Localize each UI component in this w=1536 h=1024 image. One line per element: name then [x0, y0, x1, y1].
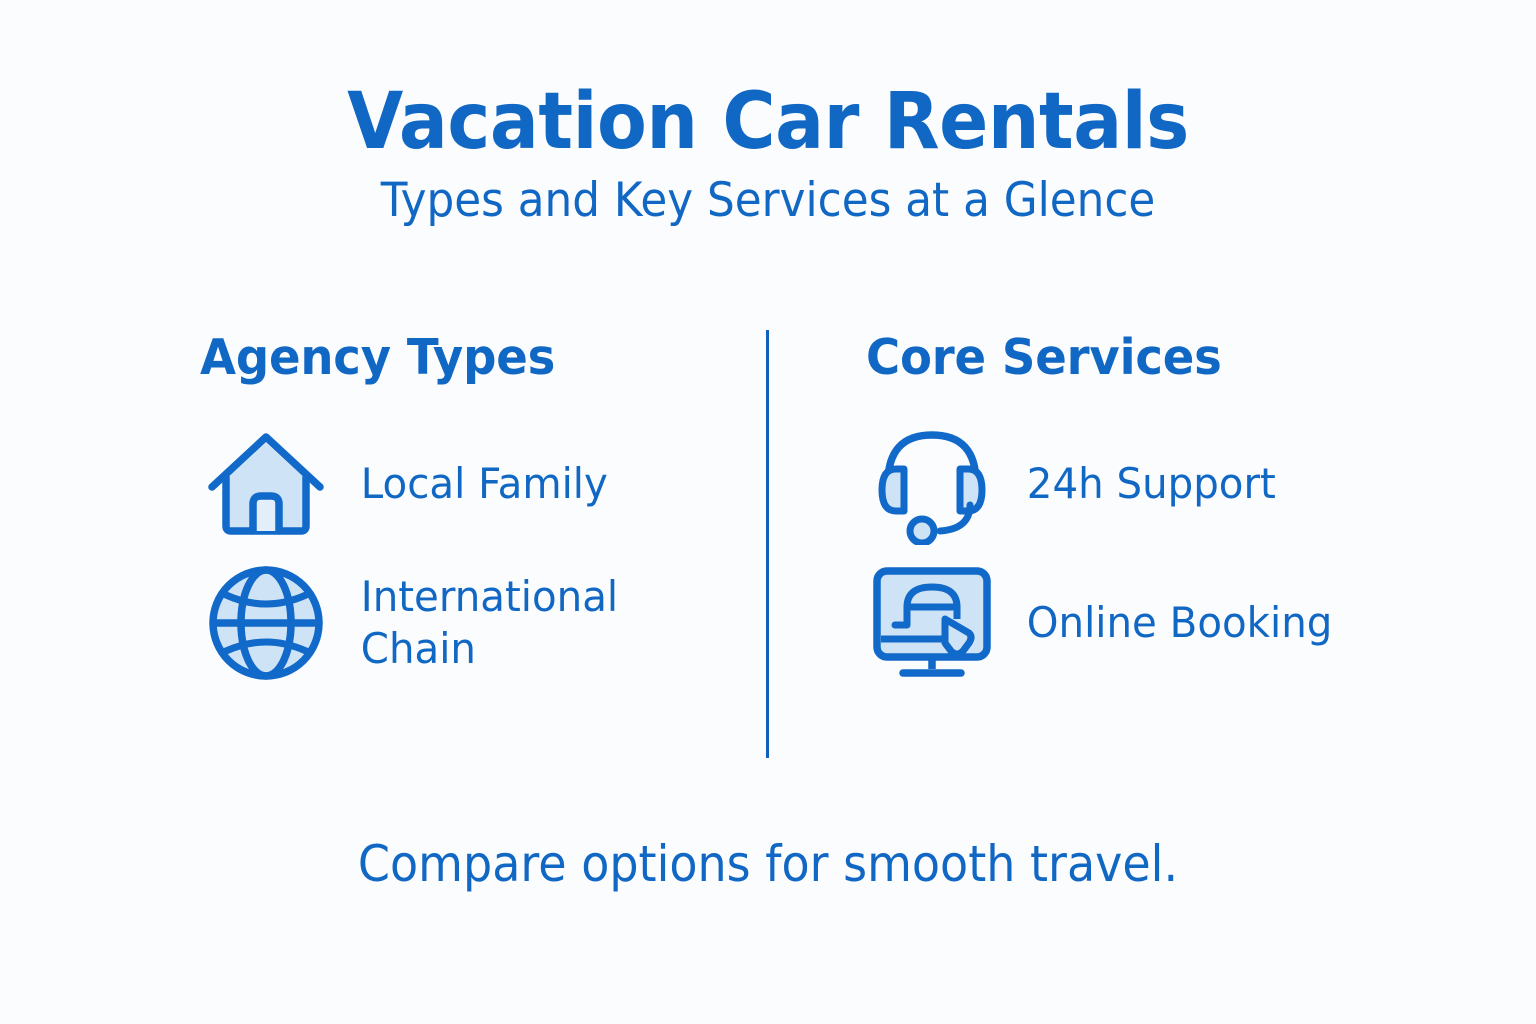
monitor-booking-icon — [866, 560, 998, 686]
list-item-24h-support: 24h Support — [866, 420, 1406, 546]
headset-icon — [866, 420, 998, 546]
infographic-poster: Vacation Car Rentals Types and Key Servi… — [0, 0, 1536, 1024]
footer: Compare options for smooth travel. — [0, 833, 1536, 895]
list-item-label: Local Family — [332, 459, 608, 508]
footer-text: Compare options for smooth travel. — [61, 833, 1474, 895]
globe-icon — [200, 560, 332, 686]
list-item-online-booking: Online Booking — [866, 560, 1406, 686]
house-icon — [200, 420, 332, 546]
column-heading-core-services: Core Services — [866, 330, 1379, 386]
column-divider — [766, 330, 769, 758]
list-item-label: Online Booking — [998, 597, 1332, 649]
list-item-label: International Chain — [332, 571, 678, 675]
page-title: Vacation Car Rentals — [54, 78, 1482, 166]
column-core-services: Core Services 24h Support — [866, 330, 1406, 700]
list-item-label: 24h Support — [998, 459, 1276, 508]
column-agency-types: Agency Types Local Family — [200, 330, 740, 700]
page-subtitle: Types and Key Services at a Glence — [54, 172, 1482, 230]
header: Vacation Car Rentals Types and Key Servi… — [0, 78, 1536, 230]
list-item-local-family: Local Family — [200, 420, 740, 546]
columns-area: Agency Types Local Family — [0, 330, 1536, 760]
column-heading-agency-types: Agency Types — [200, 330, 713, 386]
list-item-international-chain: International Chain — [200, 560, 740, 686]
